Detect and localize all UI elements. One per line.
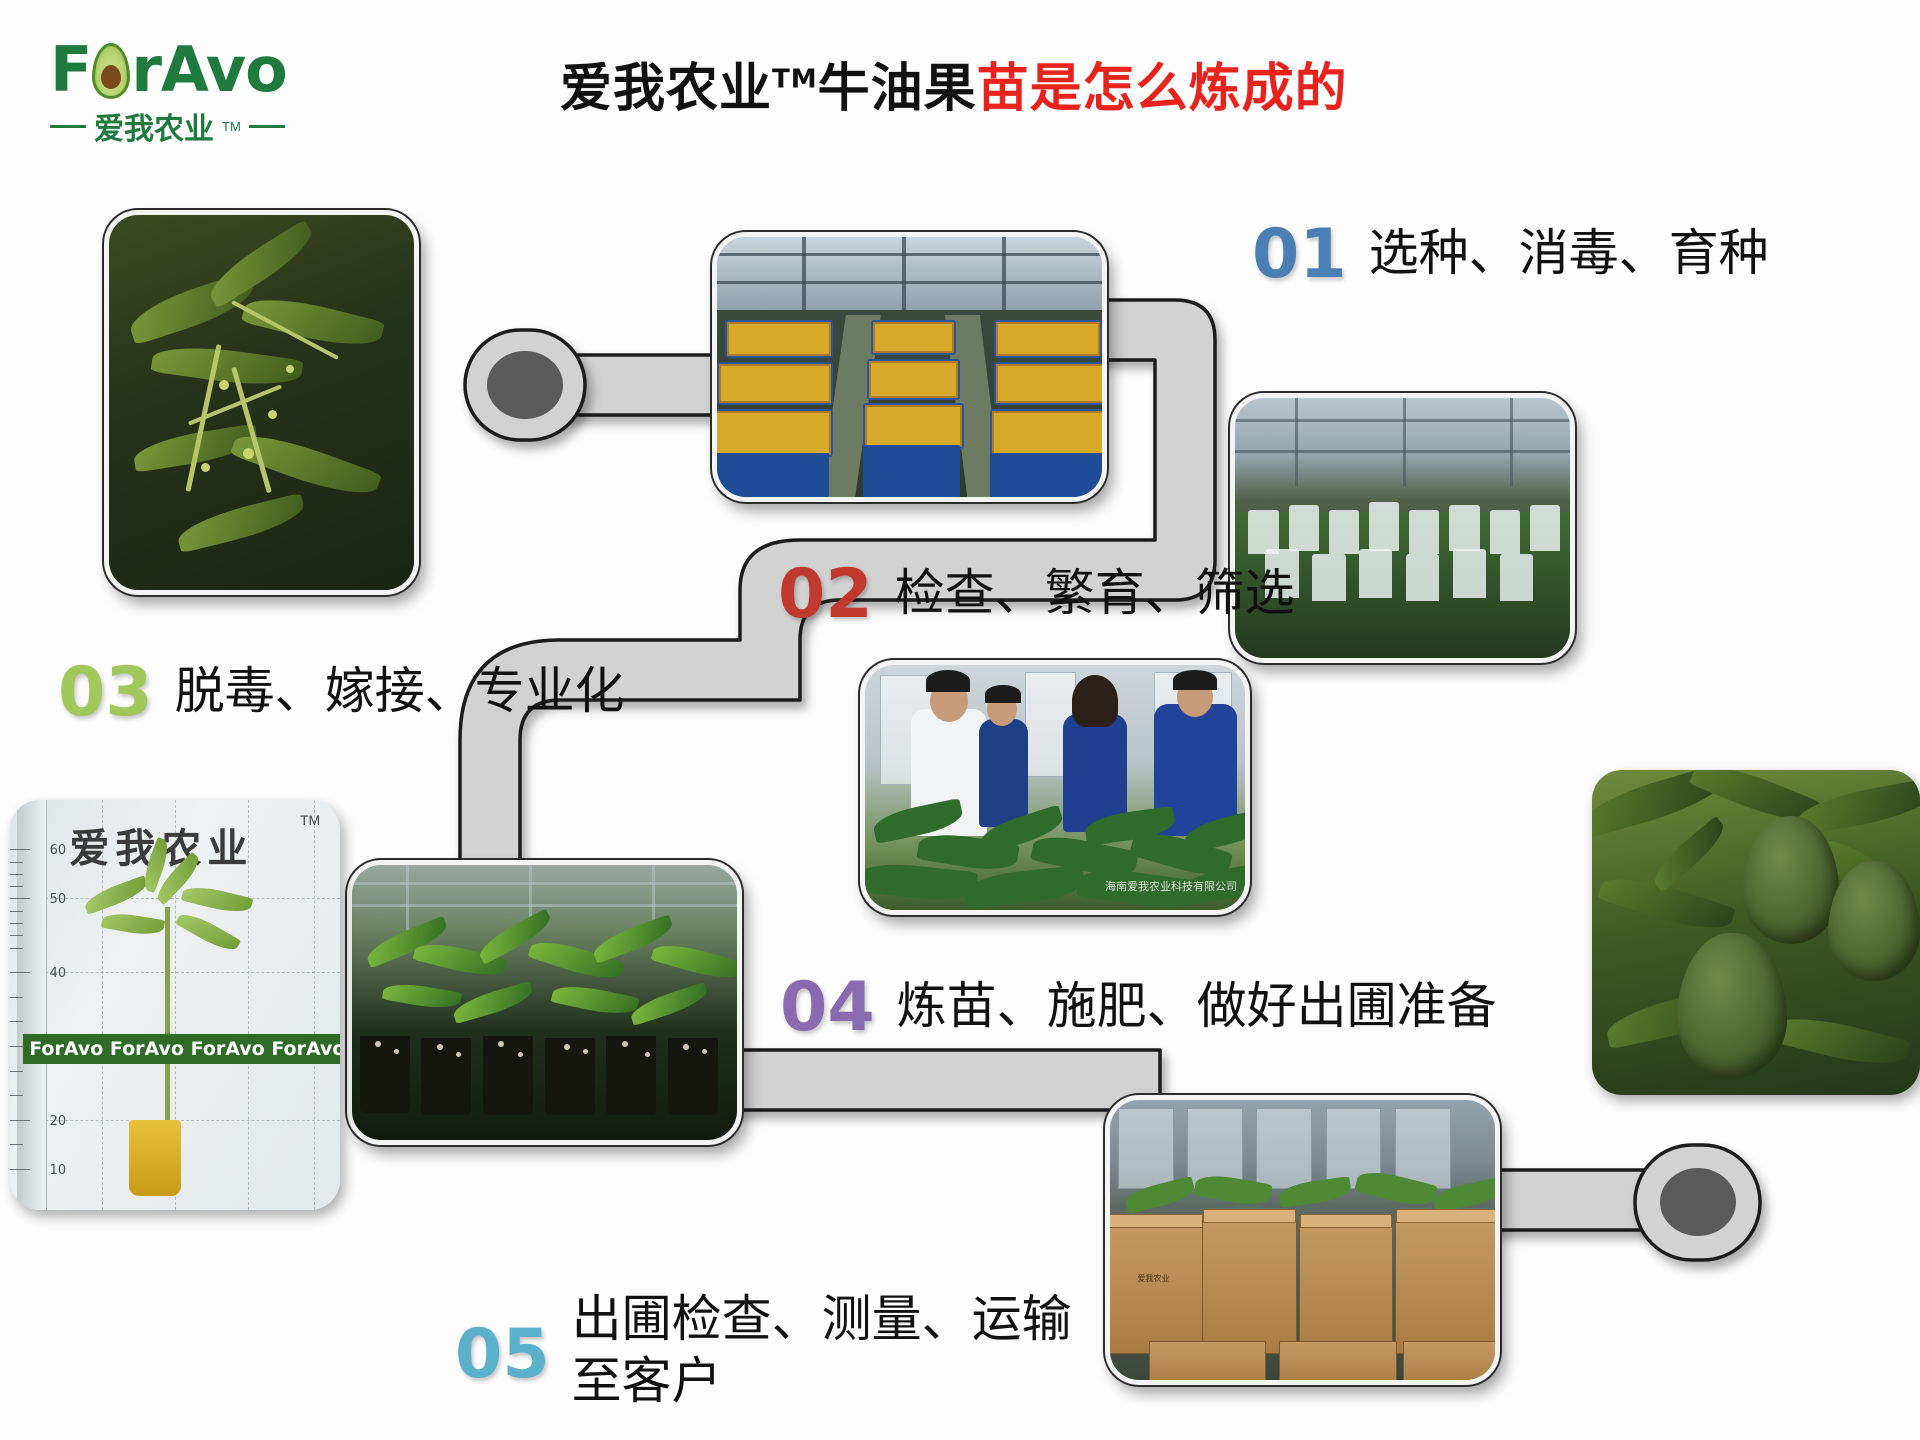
- step-number-01: 01: [1252, 222, 1347, 288]
- step-label-04: 04 炼苗、施肥、做好出圃准备: [780, 975, 1497, 1041]
- logo-letters-ravo: rAvo: [131, 33, 286, 106]
- box-label: 爱我农业: [1110, 1273, 1203, 1284]
- step-label-03: 03 脱毒、嫁接、专业化: [58, 660, 625, 726]
- ruler-tick-10: 10: [50, 1163, 67, 1178]
- logo-tm: TM: [222, 119, 241, 134]
- step-text-01: 选种、消毒、育种: [1369, 222, 1769, 284]
- step-number-04: 04: [780, 975, 875, 1041]
- step-label-05: 05 出圃检查、测量、运输 至客户: [455, 1288, 1072, 1412]
- title-part-black2: 牛油果: [818, 59, 977, 119]
- step-number-05: 05: [455, 1322, 550, 1388]
- photo-staff-inspecting-seedlings: 海南爱我农业科技有限公司: [860, 660, 1250, 915]
- flow-start-node: [487, 351, 563, 419]
- ruler-band-text: ForAvo ForAvo ForAvo ForAvo: [29, 1038, 340, 1060]
- photo-packed-shipping-boxes: 爱我农业: [1105, 1095, 1500, 1385]
- logo-letter-f: F: [50, 33, 91, 106]
- step-number-02: 02: [778, 562, 873, 628]
- step-number-03: 03: [58, 660, 153, 726]
- logo-chinese-row: 爱我农业TM: [50, 104, 320, 148]
- ruler-board-tm: TM: [300, 812, 320, 828]
- logo-wordmark: FrAvo: [50, 38, 320, 102]
- step-text-02: 检查、繁育、筛选: [895, 562, 1295, 624]
- photo-watermark: 海南爱我农业科技有限公司: [1105, 878, 1237, 894]
- page-title: 爱我农业TM牛油果苗是怎么炼成的: [560, 46, 1560, 121]
- title-tm: TM: [772, 65, 818, 95]
- ruler-tick-20: 20: [50, 1114, 67, 1129]
- logo-dash-right: [249, 125, 285, 128]
- photo-seedling-measurement-board: 60 50 40 30 20 10 爱我农业 TM ForAvo ForAvo …: [10, 800, 340, 1210]
- ruler-tick-60: 60: [50, 843, 67, 858]
- brand-logo: FrAvo 爱我农业TM: [50, 38, 320, 148]
- step-text-04: 炼苗、施肥、做好出圃准备: [897, 975, 1497, 1037]
- photo-avocado-fruit-on-tree: [1592, 770, 1920, 1095]
- step-text-05-line2: 至客户: [572, 1350, 1072, 1412]
- ruler-tick-40: 40: [50, 966, 67, 981]
- step-label-02: 02 检查、繁育、筛选: [778, 562, 1295, 628]
- title-part-black: 爱我农业: [560, 59, 772, 119]
- photo-avocado-flowering-branch: [104, 210, 419, 595]
- flow-end-node: [1660, 1168, 1736, 1236]
- logo-dash-left: [50, 125, 86, 128]
- infographic-canvas: FrAvo 爱我农业TM 爱我农业TM牛油果苗是怎么炼成的: [0, 0, 1920, 1440]
- logo-chinese-name: 爱我农业: [94, 104, 214, 148]
- ruler-brand-band: ForAvo ForAvo ForAvo ForAvo: [23, 1034, 340, 1064]
- photo-greenhouse-seed-trays: [712, 232, 1107, 502]
- step-text-05-line1: 出圃检查、测量、运输: [572, 1290, 1072, 1348]
- step-text-03: 脱毒、嫁接、专业化: [175, 660, 625, 722]
- title-part-red: 苗是怎么炼成的: [977, 59, 1348, 119]
- step-label-01: 01 选种、消毒、育种: [1252, 222, 1769, 288]
- photo-potted-seedlings-row: [347, 860, 742, 1145]
- step-text-05: 出圃检查、测量、运输 至客户: [572, 1288, 1072, 1412]
- avocado-icon: [89, 43, 133, 99]
- ruler-tick-50: 50: [50, 892, 67, 907]
